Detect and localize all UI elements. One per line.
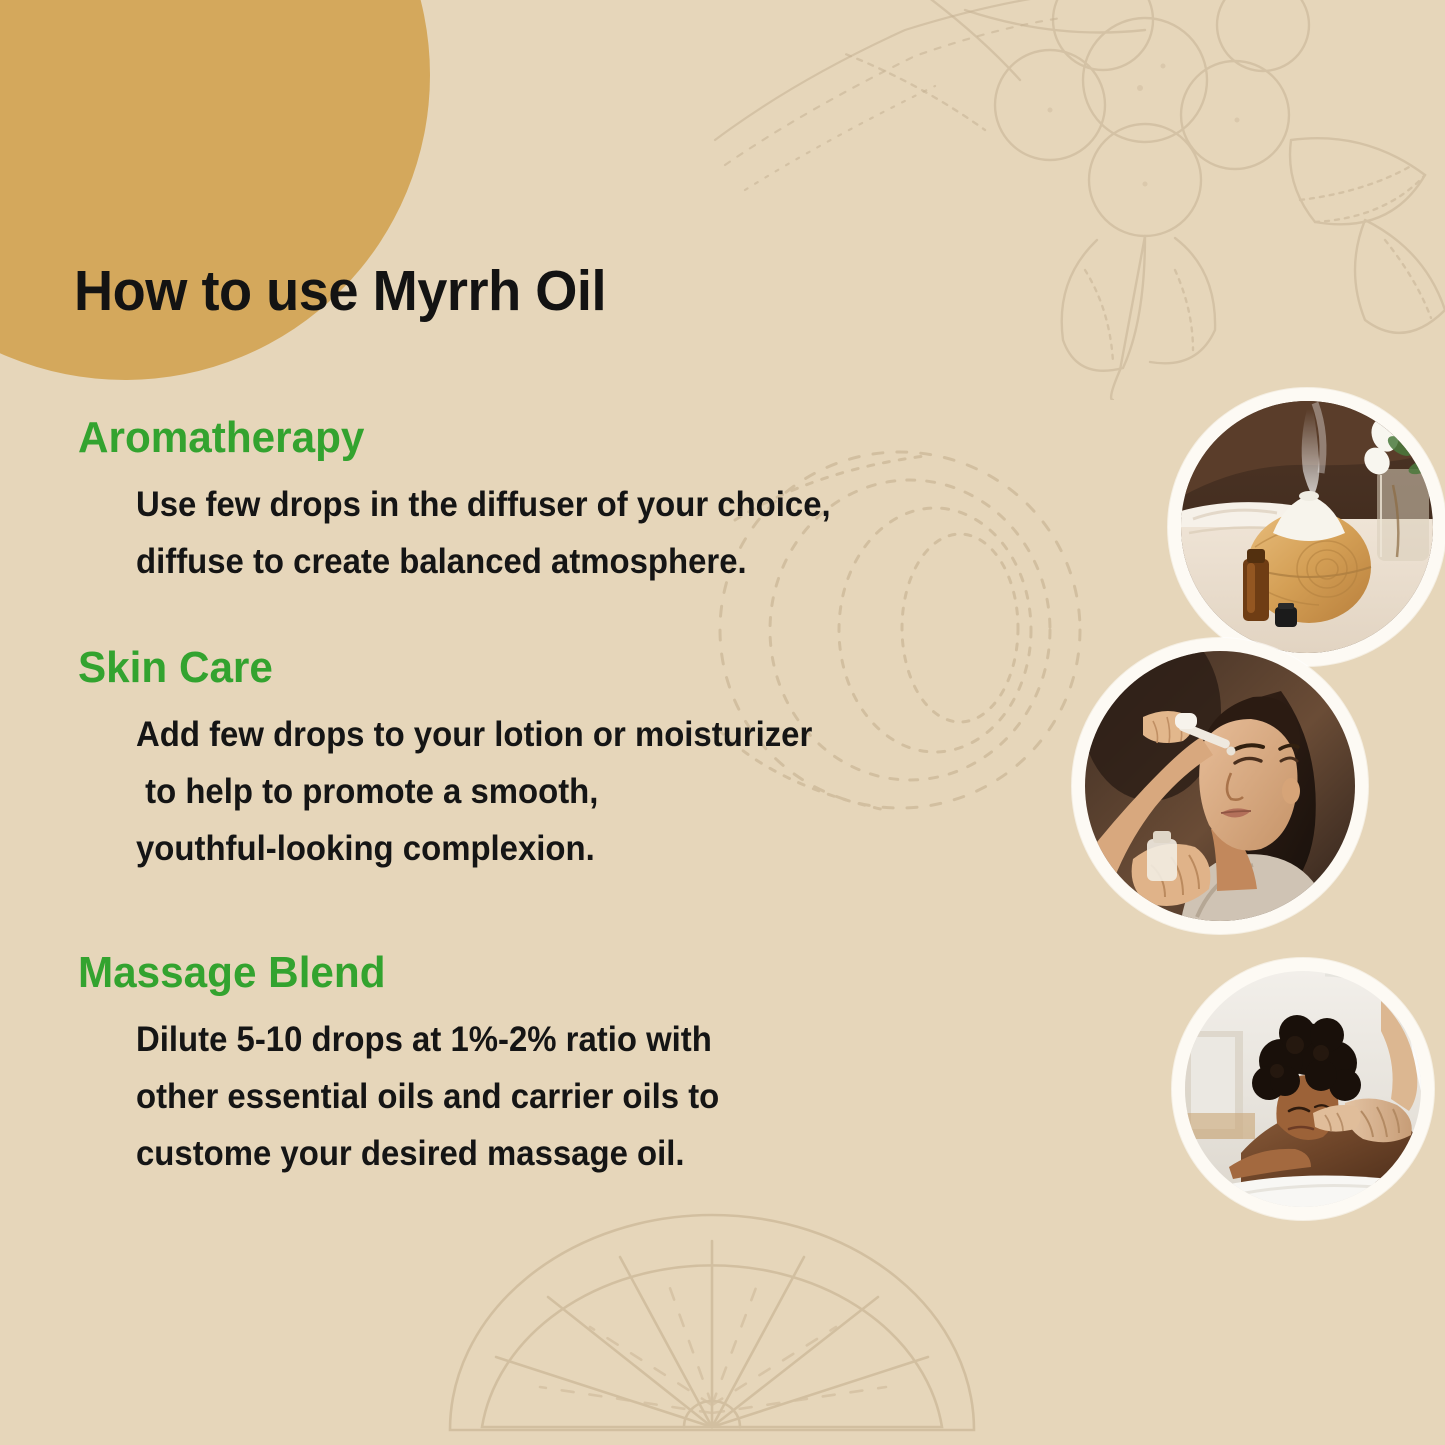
content-column: How to use Myrrh Oil Aromatherapy Use fe…	[0, 0, 1100, 1445]
body-line: Use few drops in the diffuser of your ch…	[136, 477, 1042, 534]
page-title: How to use Myrrh Oil	[74, 258, 606, 324]
massage-photo	[1185, 971, 1421, 1207]
photo-circle-skin-care	[1072, 638, 1368, 934]
section-body-aromatherapy: Use few drops in the diffuser of your ch…	[136, 477, 1042, 590]
section-skin-care: Skin Care Add few drops to your lotion o…	[0, 645, 1100, 877]
body-line: to help to promote a smooth,	[136, 764, 1042, 821]
body-line: other essential oils and carrier oils to	[136, 1069, 1042, 1126]
section-body-massage-blend: Dilute 5-10 drops at 1%-2% ratio with ot…	[136, 1012, 1042, 1182]
section-massage-blend: Massage Blend Dilute 5-10 drops at 1%-2%…	[0, 950, 1100, 1182]
section-heading-skin-care: Skin Care	[78, 645, 1059, 691]
section-heading-aromatherapy: Aromatherapy	[78, 415, 1059, 461]
body-line: Add few drops to your lotion or moisturi…	[136, 707, 1042, 764]
serum-application-photo	[1085, 651, 1355, 921]
photo-circle-massage-blend	[1172, 958, 1434, 1220]
section-heading-massage-blend: Massage Blend	[78, 950, 1059, 996]
section-aromatherapy: Aromatherapy Use few drops in the diffus…	[0, 415, 1100, 591]
body-line: custome your desired massage oil.	[136, 1126, 1042, 1183]
section-body-skin-care: Add few drops to your lotion or moisturi…	[136, 707, 1042, 877]
body-line: youthful-looking complexion.	[136, 821, 1042, 878]
diffuser-photo	[1181, 401, 1433, 653]
photo-circle-aromatherapy	[1168, 388, 1445, 666]
poster-canvas: How to use Myrrh Oil Aromatherapy Use fe…	[0, 0, 1445, 1445]
body-line: Dilute 5-10 drops at 1%-2% ratio with	[136, 1012, 1042, 1069]
body-line: diffuse to create balanced atmosphere.	[136, 534, 1042, 591]
